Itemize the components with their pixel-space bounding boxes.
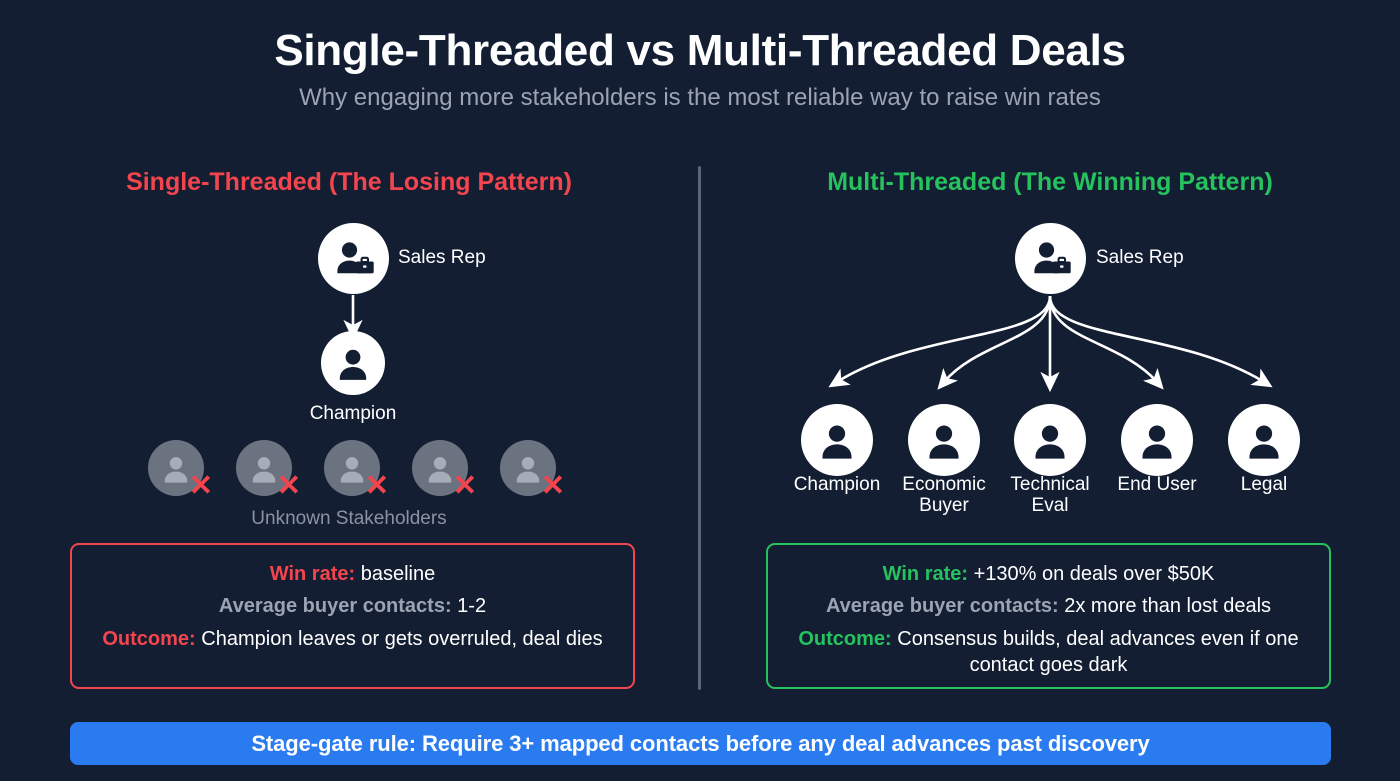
- stat-outcome-key: Outcome:: [102, 628, 195, 650]
- single-threaded-heading: Single-Threaded (The Losing Pattern): [0, 167, 698, 197]
- stakeholder-node-economic-buyer[interactable]: [908, 404, 980, 476]
- single-threaded-panel: Single-Threaded (The Losing Pattern): [0, 0, 698, 781]
- stat-outcome-key: Outcome:: [798, 628, 891, 650]
- stat-win-rate: Win rate: +130% on deals over $50K: [788, 561, 1309, 587]
- unknown-stakeholder-4: ✕: [412, 440, 468, 496]
- stat-win-rate: Win rate: baseline: [92, 561, 613, 587]
- stat-outcome: Outcome: Champion leaves or gets overrul…: [92, 626, 613, 652]
- stat-outcome-value: Consensus builds, deal advances even if …: [897, 628, 1298, 676]
- stakeholder-label-legal: Legal: [1214, 474, 1314, 495]
- unknown-stakeholder-1: ✕: [148, 440, 204, 496]
- multi-threaded-heading: Multi-Threaded (The Winning Pattern): [700, 167, 1400, 197]
- sales-rep-label: Sales Rep: [398, 247, 486, 269]
- stat-contacts-key: Average buyer contacts:: [826, 595, 1059, 617]
- stakeholder-label-end-user: End User: [1102, 474, 1212, 495]
- person-icon: [1135, 418, 1179, 462]
- sales-rep-node[interactable]: [1015, 223, 1086, 294]
- stakeholder-label-technical-eval: Technical Eval: [1005, 474, 1095, 517]
- x-mark-icon: ✕: [189, 472, 213, 501]
- champion-node[interactable]: [321, 331, 385, 395]
- x-mark-icon: ✕: [277, 472, 301, 501]
- stat-win-rate-value: +130% on deals over $50K: [974, 563, 1215, 585]
- x-mark-icon: ✕: [453, 472, 477, 501]
- champion-label: Champion: [253, 403, 453, 424]
- stat-contacts-key: Average buyer contacts:: [219, 595, 452, 617]
- x-mark-icon: ✕: [541, 472, 565, 501]
- person-icon: [1242, 418, 1286, 462]
- person-briefcase-icon: [1028, 236, 1074, 282]
- stakeholder-node-champion[interactable]: [801, 404, 873, 476]
- person-icon: [333, 343, 373, 383]
- x-mark-icon: ✕: [365, 472, 389, 501]
- sales-rep-label: Sales Rep: [1096, 247, 1184, 269]
- unknown-stakeholder-2: ✕: [236, 440, 292, 496]
- person-briefcase-icon: [331, 236, 377, 282]
- stat-win-rate-key: Win rate:: [883, 563, 968, 585]
- stat-contacts: Average buyer contacts: 2x more than los…: [788, 593, 1309, 619]
- unknown-stakeholders-caption: Unknown Stakeholders: [0, 508, 698, 530]
- stat-contacts-value: 1-2: [457, 595, 486, 617]
- unknown-stakeholder-3: ✕: [324, 440, 380, 496]
- stage-gate-banner-text: Stage-gate rule: Require 3+ mapped conta…: [251, 731, 1149, 757]
- stakeholder-node-legal[interactable]: [1228, 404, 1300, 476]
- sales-rep-node[interactable]: [318, 223, 389, 294]
- stakeholder-label-champion: Champion: [777, 474, 897, 495]
- person-icon: [815, 418, 859, 462]
- stat-win-rate-key: Win rate:: [270, 563, 355, 585]
- stakeholder-node-technical-eval[interactable]: [1014, 404, 1086, 476]
- person-icon: [922, 418, 966, 462]
- stat-outcome: Outcome: Consensus builds, deal advances…: [788, 626, 1309, 679]
- stakeholder-label-economic-buyer: Economic Buyer: [894, 474, 994, 517]
- stakeholder-node-end-user[interactable]: [1121, 404, 1193, 476]
- infographic-canvas: Single-Threaded vs Multi-Threaded Deals …: [0, 0, 1400, 781]
- multi-threaded-stats-box: Win rate: +130% on deals over $50K Avera…: [766, 543, 1331, 689]
- stat-contacts-value: 2x more than lost deals: [1064, 595, 1271, 617]
- stat-outcome-value: Champion leaves or gets overruled, deal …: [201, 628, 602, 650]
- stat-win-rate-value: baseline: [361, 563, 436, 585]
- single-threaded-stats-box: Win rate: baseline Average buyer contact…: [70, 543, 635, 689]
- multi-threaded-panel: Multi-Threaded (The Winning Pattern): [700, 0, 1400, 781]
- stat-contacts: Average buyer contacts: 1-2: [92, 593, 613, 619]
- person-icon: [1028, 418, 1072, 462]
- unknown-stakeholder-5: ✕: [500, 440, 556, 496]
- stage-gate-banner: Stage-gate rule: Require 3+ mapped conta…: [70, 722, 1331, 765]
